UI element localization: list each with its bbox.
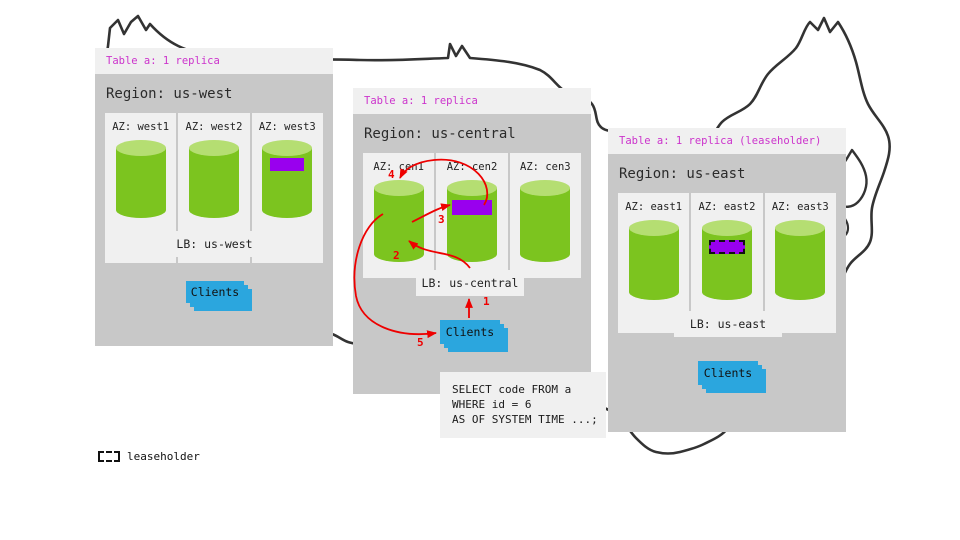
az-label-east3: AZ: east3 (772, 201, 829, 213)
cylinder-west1[interactable] (116, 140, 166, 218)
cylinder-body (116, 148, 166, 210)
flow-label-3: 3 (438, 213, 445, 226)
flow-label-4: 4 (388, 168, 395, 181)
cylinder-body (447, 188, 497, 254)
cylinder-east3[interactable] (775, 220, 825, 300)
region-title-us-central: Region: us-central (353, 114, 591, 153)
legend-label: leaseholder (127, 450, 200, 463)
dashed-rectangle-icon (98, 451, 120, 462)
lb-us-east[interactable]: LB: us-east (674, 311, 782, 337)
replica-west3[interactable] (270, 158, 304, 171)
cylinder-body (520, 188, 570, 254)
region-title-us-east: Region: us-east (608, 154, 846, 193)
cylinder-top (447, 180, 497, 196)
cylinder-top (520, 180, 570, 196)
flow-label-1: 1 (483, 295, 490, 308)
cylinder-west3[interactable] (262, 140, 312, 218)
cylinder-body (189, 148, 239, 210)
az-label-east1: AZ: east1 (625, 201, 682, 213)
cylinder-top (262, 140, 312, 156)
clients-card-front[interactable]: Clients (698, 361, 758, 385)
legend: leaseholder (98, 450, 200, 463)
clients-us-central[interactable]: Clients (440, 320, 512, 352)
cylinder-body (374, 188, 424, 254)
region-title-us-west: Region: us-west (95, 74, 333, 113)
clients-card-front[interactable]: Clients (186, 281, 244, 303)
replica-east2-leaseholder[interactable] (709, 240, 745, 254)
az-label-west1: AZ: west1 (112, 121, 169, 133)
replica-cen2[interactable] (452, 200, 492, 215)
az-label-cen1: AZ: cen1 (373, 161, 424, 173)
clients-card-front[interactable]: Clients (440, 320, 500, 344)
cylinder-top (374, 180, 424, 196)
lb-us-central[interactable]: LB: us-central (416, 270, 524, 296)
cylinder-west2[interactable] (189, 140, 239, 218)
az-label-cen2: AZ: cen2 (447, 161, 498, 173)
cylinder-body (702, 228, 752, 292)
clients-us-east[interactable]: Clients (698, 361, 770, 393)
cylinder-cen2[interactable] (447, 180, 497, 262)
flow-label-5: 5 (417, 336, 424, 349)
region-body-us-central: Region: us-central AZ: cen1 AZ: cen2 (353, 114, 591, 394)
cylinder-top (702, 220, 752, 236)
cylinder-top (189, 140, 239, 156)
az-label-west2: AZ: west2 (186, 121, 243, 133)
cylinder-body (775, 228, 825, 292)
az-label-cen3: AZ: cen3 (520, 161, 571, 173)
lb-us-west[interactable]: LB: us-west (162, 231, 267, 257)
az-cen2[interactable]: AZ: cen2 (436, 153, 507, 278)
region-header-us-central: Table a: 1 replica (353, 88, 591, 114)
diagram-canvas: Table a: 1 replica Region: us-west AZ: w… (0, 0, 960, 540)
az-cen3[interactable]: AZ: cen3 (510, 153, 581, 278)
cylinder-body (629, 228, 679, 292)
clients-us-west[interactable]: Clients (186, 281, 258, 311)
cylinder-cen3[interactable] (520, 180, 570, 262)
cylinder-top (775, 220, 825, 236)
cylinder-east1[interactable] (629, 220, 679, 300)
cylinder-east2[interactable] (702, 220, 752, 300)
region-header-us-west: Table a: 1 replica (95, 48, 333, 74)
flow-label-2: 2 (393, 249, 400, 262)
region-header-us-east: Table a: 1 replica (leaseholder) (608, 128, 846, 154)
az-label-east2: AZ: east2 (699, 201, 756, 213)
cylinder-top (116, 140, 166, 156)
cylinder-top (629, 220, 679, 236)
az-label-west3: AZ: west3 (259, 121, 316, 133)
sql-query-block: SELECT code FROM a WHERE id = 6 AS OF SY… (440, 372, 606, 438)
